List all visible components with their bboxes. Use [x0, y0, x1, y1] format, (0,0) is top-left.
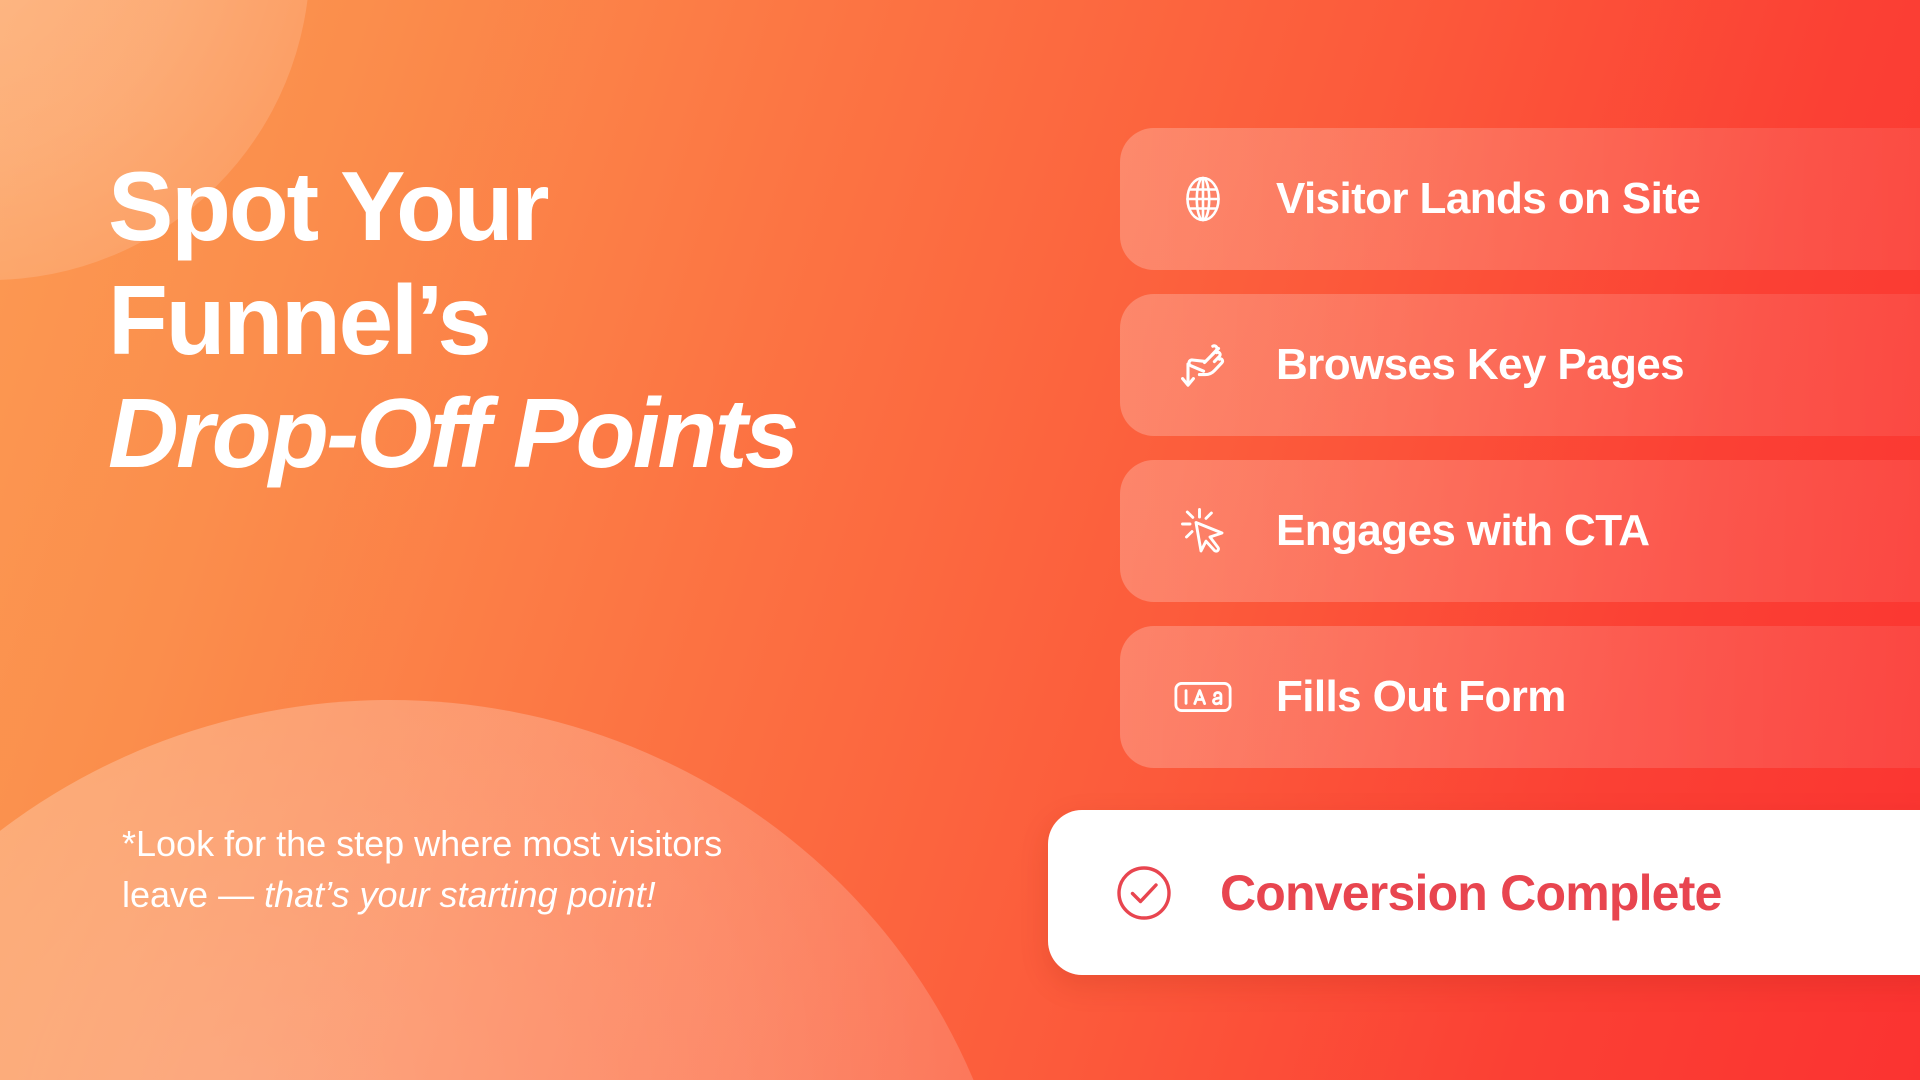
scroll-hand-icon [1172, 334, 1234, 396]
funnel-step-engages-with-cta[interactable]: Engages with CTA [1120, 460, 1920, 602]
funnel-step-fills-out-form[interactable]: Fills Out Form [1120, 626, 1920, 768]
headline-line-1: Spot Your [108, 150, 797, 264]
funnel-step-label: Fills Out Form [1276, 672, 1566, 722]
headline-line-2: Funnel’s [108, 264, 797, 378]
headline-line-3: Drop-Off Points [108, 377, 797, 491]
funnel-step-label: Engages with CTA [1276, 506, 1649, 556]
promo-graphic: Spot Your Funnel’s Drop-Off Points *Look… [0, 0, 1920, 1080]
footnote-text: *Look for the step where most visitors l… [122, 818, 762, 920]
funnel-step-list: Visitor Lands on Site Browses Key Pages [1120, 128, 1920, 792]
funnel-step-label: Browses Key Pages [1276, 340, 1684, 390]
check-circle-icon [1110, 859, 1178, 927]
funnel-step-label: Visitor Lands on Site [1276, 174, 1700, 224]
funnel-step-browses-key-pages[interactable]: Browses Key Pages [1120, 294, 1920, 436]
conversion-complete-label: Conversion Complete [1220, 864, 1722, 922]
conversion-complete-card[interactable]: Conversion Complete [1048, 810, 1920, 975]
footnote-italic: that’s your starting point! [264, 874, 656, 915]
globe-icon [1172, 168, 1234, 230]
page-title: Spot Your Funnel’s Drop-Off Points [108, 150, 797, 491]
text-field-icon [1172, 666, 1234, 728]
click-cursor-icon [1172, 500, 1234, 562]
funnel-step-visitor-lands-on-site[interactable]: Visitor Lands on Site [1120, 128, 1920, 270]
left-content-column: Spot Your Funnel’s Drop-Off Points *Look… [108, 0, 988, 1080]
